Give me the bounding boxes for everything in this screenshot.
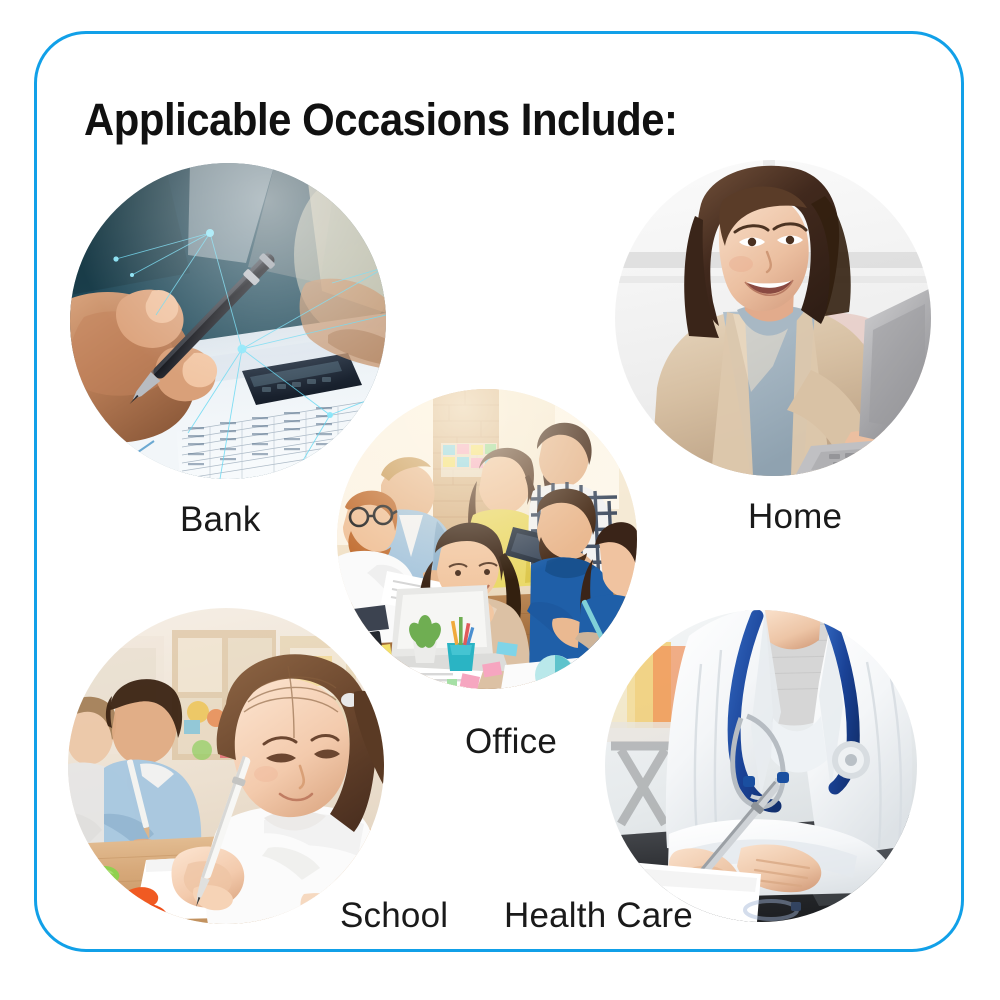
office-scene-illustration: [337, 389, 637, 689]
school-scene-illustration: [68, 608, 384, 924]
health-care-scene-illustration: [605, 610, 917, 922]
occasion-label-health-care: Health Care: [504, 896, 693, 936]
occasion-label-bank: Bank: [180, 500, 261, 540]
occasion-label-school: School: [340, 896, 448, 936]
occasion-label-office: Office: [465, 722, 557, 762]
occasion-photo-bank: [70, 163, 386, 479]
infographic-poster: Applicable Occasions Include:: [0, 0, 1000, 1000]
occasion-photo-health-care: [605, 610, 917, 922]
page-title: Applicable Occasions Include:: [84, 94, 678, 146]
bank-scene-illustration: [70, 163, 386, 479]
occasion-photo-office: [337, 389, 637, 689]
occasion-label-home: Home: [748, 497, 842, 537]
occasion-photo-home: [615, 160, 931, 476]
occasion-photo-school: [68, 608, 384, 924]
home-scene-illustration: [615, 160, 931, 476]
